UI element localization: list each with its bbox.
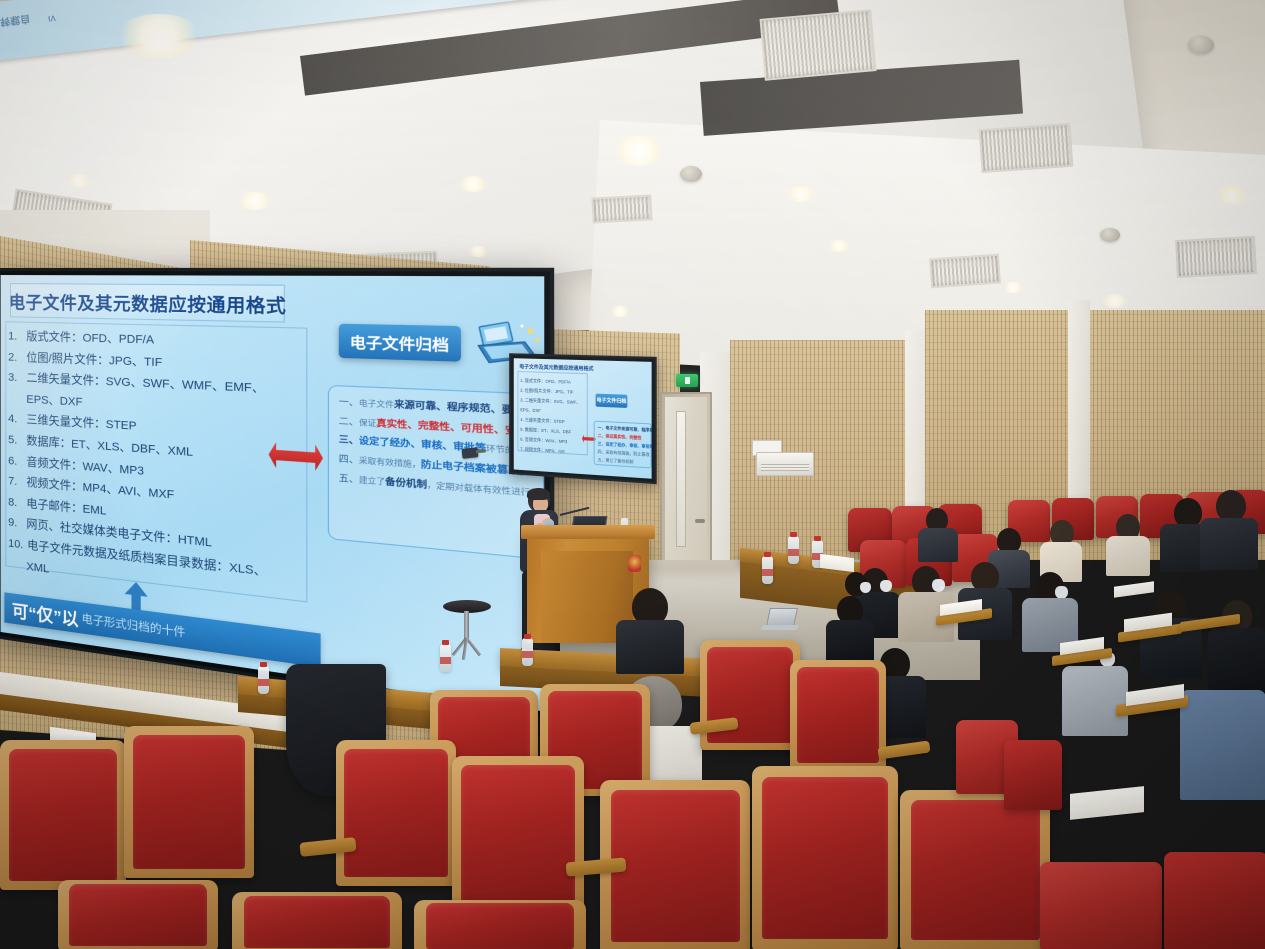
auditorium-seat[interactable] bbox=[700, 640, 800, 750]
ceiling-speaker-dome-2 bbox=[1188, 36, 1214, 54]
seat-cushion bbox=[344, 749, 447, 877]
door-glass-strip bbox=[676, 411, 686, 547]
list-item-number bbox=[8, 555, 22, 576]
secondary-badge-label: 电子文件归档 bbox=[597, 397, 627, 405]
ceiling-downlight-6 bbox=[1215, 186, 1249, 204]
exit-sign-icon bbox=[676, 374, 698, 387]
attendee-jeans bbox=[1180, 690, 1265, 800]
secondary-list-item: 7. 视频文件：MP4、AVI bbox=[520, 446, 564, 455]
ceiling-downlight-7 bbox=[1102, 294, 1128, 308]
attendee-person bbox=[898, 566, 954, 638]
list-item-number: 3. bbox=[8, 369, 22, 389]
secondary-display-screen[interactable]: 电子文件及其元数据应按通用格式 1. 版式文件：OFD、PDF/A 2. 位图/… bbox=[509, 353, 657, 484]
list-item-number: 6. bbox=[8, 452, 22, 473]
attendee-body bbox=[1208, 628, 1265, 694]
req-lead: 建立了 bbox=[359, 476, 385, 486]
ceiling-vent-4 bbox=[1175, 236, 1257, 278]
water-bottle bbox=[440, 644, 451, 672]
secondary-req-line: 五、建立了备份机制 bbox=[598, 457, 634, 465]
auditorium-seat[interactable] bbox=[124, 726, 254, 878]
seat-cushion bbox=[244, 896, 390, 949]
door-handle[interactable] bbox=[695, 519, 705, 523]
door-panel bbox=[665, 397, 707, 585]
archive-badge: 电子文件归档 bbox=[339, 324, 461, 362]
auditorium-seat[interactable] bbox=[0, 740, 126, 890]
seat-cushion bbox=[69, 884, 207, 946]
seat-cushion bbox=[797, 667, 880, 764]
ceiling-downlight-10 bbox=[468, 246, 488, 257]
ceiling-downlight-13 bbox=[66, 174, 92, 187]
wall-camera-icon bbox=[462, 447, 479, 459]
attendee-body bbox=[616, 620, 684, 674]
water-bottle bbox=[788, 536, 799, 564]
attendee-person bbox=[1180, 690, 1265, 800]
attendee-person bbox=[1106, 514, 1150, 572]
ceiling-downlight-3 bbox=[238, 192, 272, 210]
slide-title-box: 电子文件及其元数据应按通用格式 bbox=[10, 283, 285, 323]
list-item-number: 7. bbox=[8, 472, 22, 493]
attendee-person bbox=[1040, 520, 1082, 578]
secondary-requirements-box: 一、电子文件来源可靠、程序规范 二、保证真实性、完整性 三、设定了经办、审核、审… bbox=[594, 421, 652, 469]
auditorium-seat[interactable] bbox=[414, 900, 586, 949]
seat-cushion bbox=[133, 735, 245, 869]
ceiling-vent-3 bbox=[929, 254, 1001, 289]
attendee-person bbox=[918, 508, 958, 560]
ceiling-downlight-4 bbox=[458, 176, 488, 192]
auditorium-seat[interactable] bbox=[336, 740, 456, 886]
attendee-person bbox=[958, 562, 1012, 636]
secondary-slide: 电子文件及其元数据应按通用格式 1. 版式文件：OFD、PDF/A 2. 位图/… bbox=[514, 358, 652, 479]
slide-title: 电子文件及其元数据应按通用格式 bbox=[9, 288, 286, 318]
list-item-number: 8. bbox=[8, 493, 22, 514]
req-number: 三、 bbox=[339, 435, 359, 447]
conference-hall-scene: 转载自 IV 电子文件归档 电子文件及其元数据应按 bbox=[0, 0, 1265, 949]
seat-cushion bbox=[461, 765, 575, 904]
attendee-laptop[interactable] bbox=[762, 608, 798, 632]
req-lead: 保证 bbox=[359, 419, 376, 428]
auditorium-seat[interactable] bbox=[790, 660, 886, 770]
slide-format-list: 1.版式文件：OFD、PDF/A 2.位图/照片文件：JPG、TIF 3.二维矢… bbox=[8, 327, 301, 612]
list-item-text: XML bbox=[26, 557, 49, 580]
seat-cushion bbox=[426, 903, 574, 949]
auditorium-seat-cushion[interactable] bbox=[1040, 862, 1162, 949]
req-strong: 备份机制 bbox=[385, 476, 427, 490]
water-bottle bbox=[258, 666, 269, 694]
attendee-person bbox=[616, 588, 684, 668]
reflection-text-mid: IV bbox=[48, 13, 57, 23]
auditorium-seat[interactable] bbox=[900, 790, 1050, 949]
secondary-req-line: 二、保证真实性、完整性 bbox=[598, 433, 642, 441]
req-lead: 采取有效措施， bbox=[359, 457, 421, 469]
seat-cushion bbox=[762, 777, 888, 939]
attendee-person bbox=[1200, 490, 1258, 568]
req-number: 五、 bbox=[339, 472, 359, 484]
list-item-text: 版式文件：OFD、PDF/A bbox=[26, 328, 154, 352]
exit-person-glyph bbox=[685, 377, 690, 384]
attendee-person bbox=[836, 572, 876, 620]
req-lead: 电子文件 bbox=[359, 400, 394, 410]
req-number: 四、 bbox=[339, 453, 359, 465]
list-item-number: 4. bbox=[8, 410, 22, 431]
auditorium-seat[interactable] bbox=[232, 892, 402, 949]
ac-grille bbox=[761, 464, 809, 471]
ceiling-downlight-11 bbox=[610, 306, 630, 317]
ceiling-speaker-dome-3 bbox=[1100, 228, 1120, 242]
reflection-text-left: 转载自 bbox=[0, 12, 31, 30]
ceiling-speaker-dome-1 bbox=[680, 166, 702, 182]
attendee-body bbox=[918, 528, 958, 562]
ceiling-downlight-1 bbox=[115, 14, 203, 58]
ceiling-downlight-2 bbox=[612, 136, 666, 166]
face-mask bbox=[932, 579, 945, 592]
water-bottle bbox=[762, 556, 773, 584]
air-conditioner-unit bbox=[756, 452, 814, 476]
attendee-laptop-base bbox=[761, 625, 799, 630]
ceiling-vent-7 bbox=[591, 194, 652, 223]
auditorium-seat[interactable] bbox=[452, 756, 584, 914]
secondary-list-item: EPS、DXF bbox=[520, 407, 541, 414]
list-item-number: 1. bbox=[8, 327, 22, 347]
attendee-body bbox=[1200, 518, 1258, 570]
list-item-number: 10. bbox=[8, 535, 23, 556]
water-bottle bbox=[522, 638, 533, 666]
face-mask bbox=[880, 580, 892, 592]
auditorium-seat[interactable] bbox=[752, 766, 898, 949]
archive-badge-label: 电子文件归档 bbox=[350, 330, 449, 355]
list-item-number: 2. bbox=[8, 348, 22, 368]
list-item-number: 9. bbox=[8, 514, 22, 535]
presenter-hair bbox=[527, 488, 550, 500]
auditorium-seat-cushion[interactable] bbox=[1164, 852, 1265, 949]
seat-cushion bbox=[9, 749, 117, 881]
banner-emphasis: 可“仅”以 bbox=[12, 596, 79, 631]
attendee-body bbox=[1062, 666, 1128, 736]
seat-cushion bbox=[611, 790, 740, 941]
institutional-emblem bbox=[628, 555, 641, 572]
podium-top-surface bbox=[521, 525, 655, 539]
seat-cushion bbox=[911, 800, 1040, 941]
ceiling-vent-1 bbox=[760, 9, 877, 81]
req-number: 二、 bbox=[339, 416, 359, 427]
list-item-text: EPS、DXF bbox=[26, 390, 82, 413]
list-item-number: 5. bbox=[8, 431, 22, 452]
auditorium-seat-cushion[interactable] bbox=[1004, 740, 1062, 810]
auditorium-seat[interactable] bbox=[58, 880, 218, 949]
ceiling-vent-2 bbox=[979, 123, 1074, 173]
req-number: 一、 bbox=[339, 397, 359, 408]
secondary-archive-badge: 电子文件归档 bbox=[596, 394, 628, 408]
papers-front-desk bbox=[1070, 786, 1144, 820]
attendee-laptop-lid bbox=[766, 608, 798, 626]
face-mask bbox=[860, 582, 871, 593]
attendee-body bbox=[1106, 536, 1150, 576]
ceiling-downlight-14 bbox=[828, 240, 850, 252]
banner-rest: 电子形式归档的十件 bbox=[82, 610, 186, 641]
ceiling-downlight-5 bbox=[786, 186, 816, 202]
list-item-number bbox=[8, 390, 22, 411]
ceiling-downlight-12 bbox=[1003, 282, 1023, 293]
